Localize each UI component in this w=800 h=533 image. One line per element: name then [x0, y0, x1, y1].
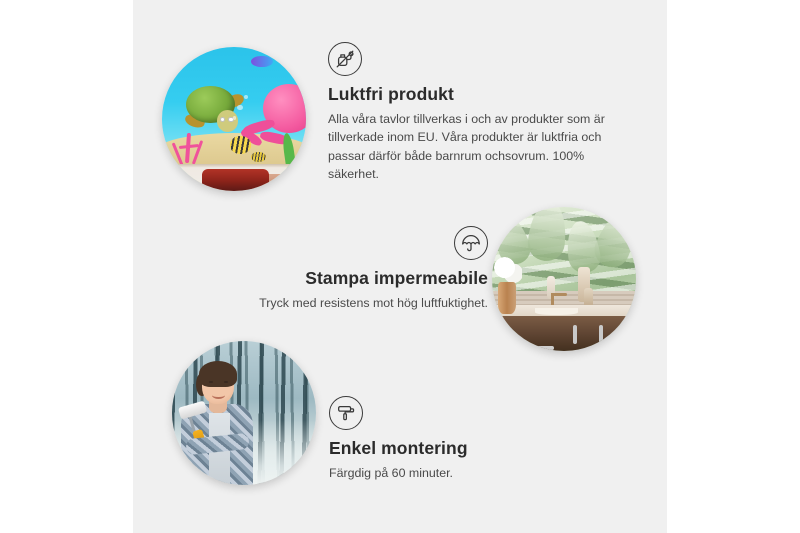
- woman-hair: [199, 361, 236, 387]
- feature-waterproof: Stampa impermeabile Tryck med resistens …: [188, 226, 488, 312]
- feature-body: Färgdig på 60 minuter.: [329, 464, 619, 482]
- left-letterbox-bar: [0, 0, 133, 533]
- painter-artwork: [172, 341, 316, 485]
- wooden-cabinet: [498, 316, 636, 351]
- blue-fish: [251, 56, 273, 68]
- cabinet-handle: [599, 325, 603, 344]
- feature-mounting: Enkel montering Färgdig på 60 minuter.: [329, 396, 619, 482]
- small-fish: [251, 152, 265, 162]
- drawer-handle: [515, 346, 553, 350]
- feature-body: Tryck med resistens mot hög luftfuktighe…: [188, 294, 488, 312]
- feature-title: Luktfri produkt: [328, 84, 628, 105]
- bubble: [237, 105, 243, 111]
- feature-odorless: Luktfri produkt Alla våra tavlor tillver…: [328, 42, 628, 183]
- underwater-kids-mural-photo[interactable]: [162, 47, 306, 191]
- feature-body: Alla våra tavlor tillverkas i och av pro…: [328, 110, 628, 183]
- no-fragrance-icon: [328, 42, 362, 76]
- room-furniture: [202, 169, 268, 191]
- paint-roller-icon: [329, 396, 363, 430]
- underwater-artwork: [162, 47, 306, 191]
- yellow-striped-fish: [230, 136, 252, 153]
- white-flowers: [493, 256, 522, 285]
- bathroom-artwork: [492, 207, 636, 351]
- content-panel: Luktfri produkt Alla våra tavlor tillver…: [133, 0, 667, 533]
- sink-basin: [535, 308, 578, 315]
- woman-with-paint-roller-photo[interactable]: [172, 341, 316, 485]
- feature-title: Stampa impermeabile: [188, 268, 488, 289]
- vase: [498, 282, 517, 314]
- right-letterbox-bar: [667, 0, 800, 533]
- cabinet-handle: [573, 325, 577, 344]
- bubble: [233, 116, 237, 120]
- turtle-head: [217, 110, 239, 132]
- umbrella-icon: [454, 226, 488, 260]
- screenshot-stage: Luktfri produkt Alla våra tavlor tillver…: [0, 0, 800, 533]
- bathroom-vanity-photo[interactable]: [492, 207, 636, 351]
- feature-title: Enkel montering: [329, 438, 619, 459]
